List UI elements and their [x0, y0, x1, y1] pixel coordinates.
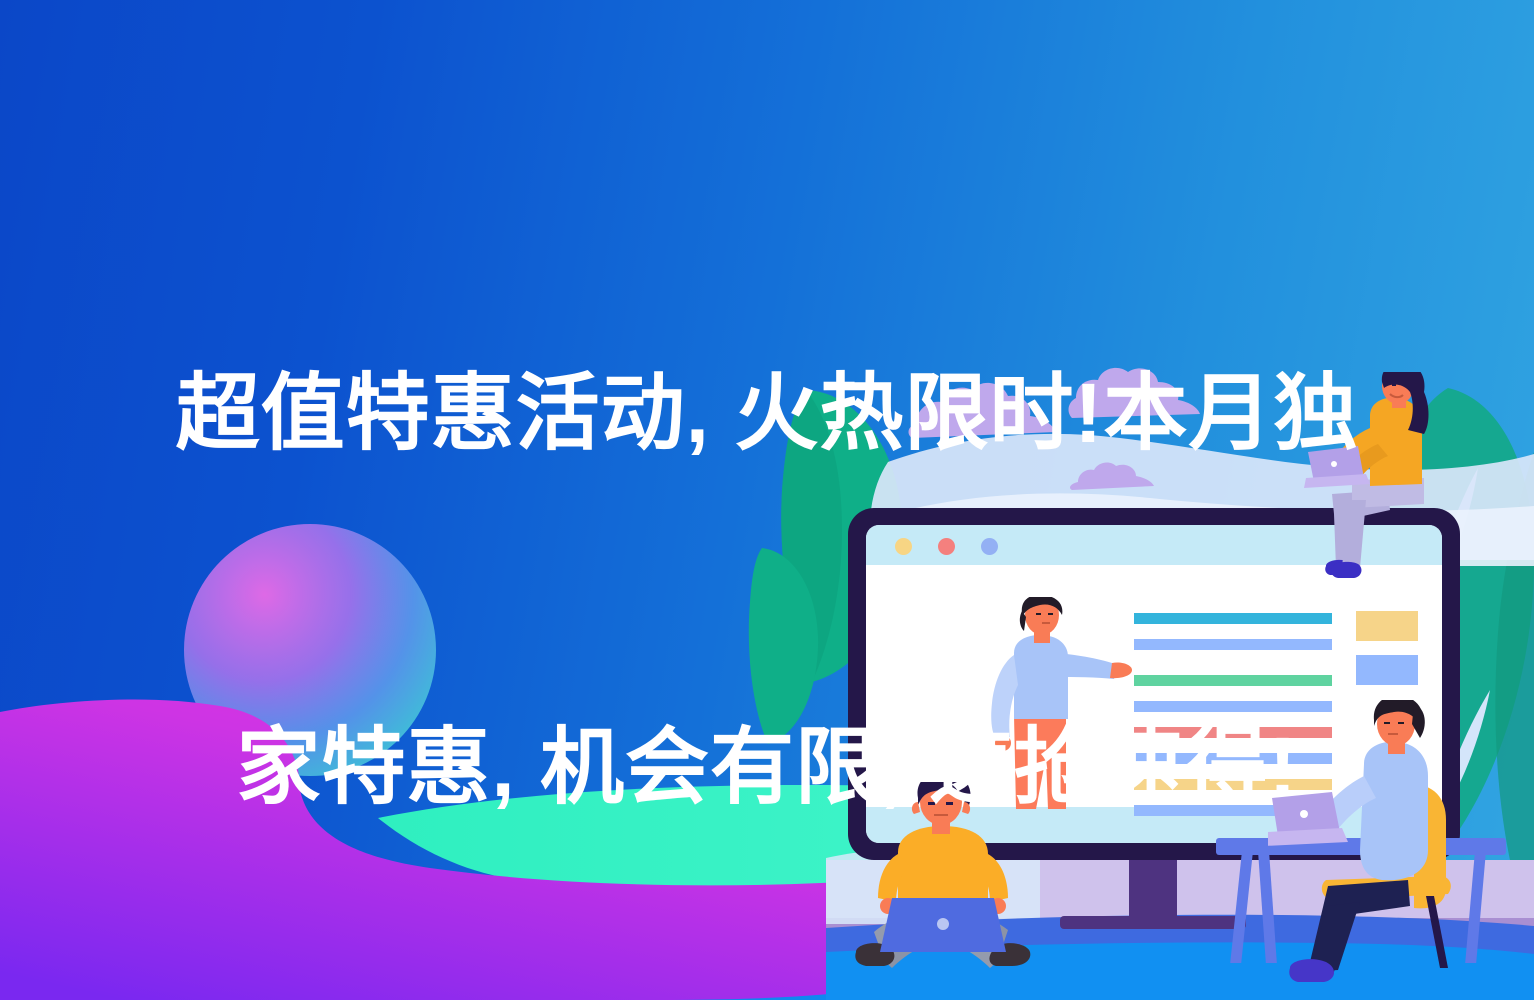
page-title: 超值特惠活动, 火热限时!本月独 家特惠, 机会有限, 速抢速得!: [0, 118, 1534, 1000]
promo-banner: 超值特惠活动, 火热限时!本月独 家特惠, 机会有限, 速抢速得!: [0, 0, 1534, 1000]
headline-line-1: 超值特惠活动, 火热限时!本月独: [0, 354, 1534, 472]
headline-line-2: 家特惠, 机会有限, 速抢速得!: [0, 708, 1534, 826]
